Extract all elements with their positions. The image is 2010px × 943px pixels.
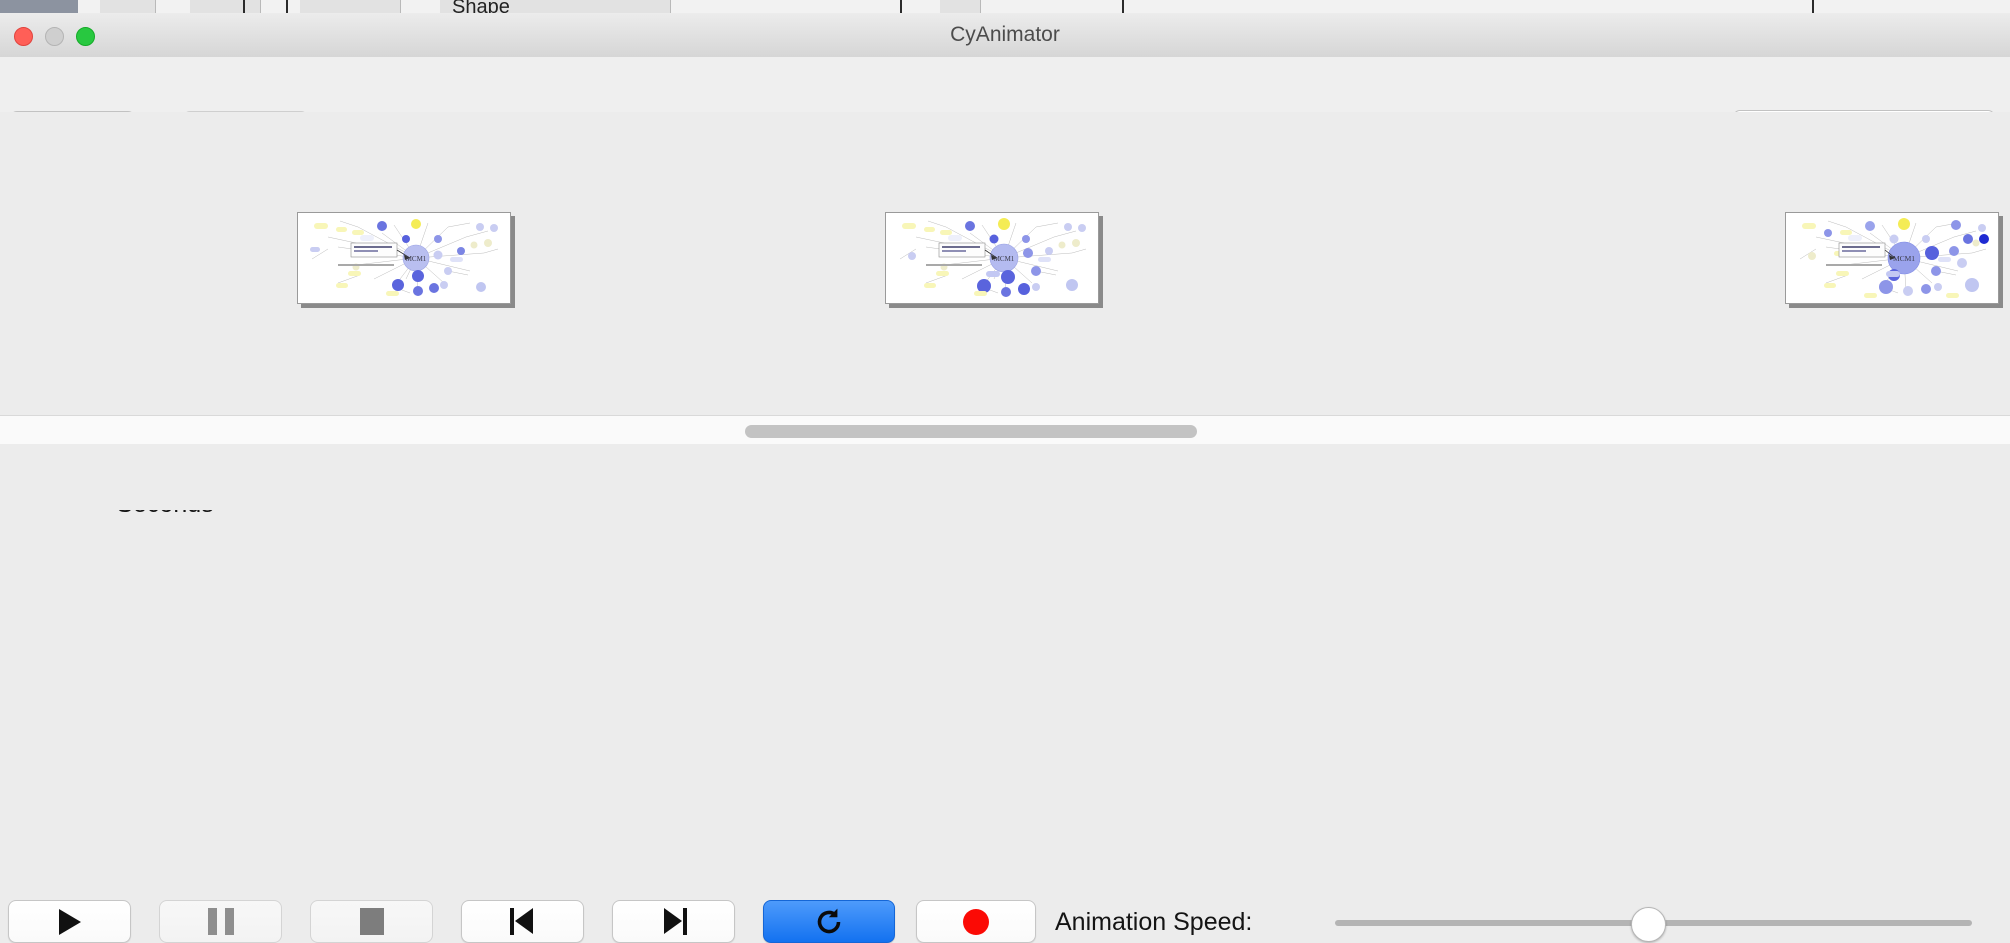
background-window-strip: Shape	[0, 0, 2010, 13]
window-title: CyAnimator	[0, 13, 2010, 57]
animation-speed-slider-thumb[interactable]	[1631, 907, 1666, 942]
playback-bar: Animation Speed:	[0, 444, 2010, 510]
background-sidebar-fragment	[0, 0, 78, 13]
stop-button[interactable]	[310, 900, 433, 943]
hub-node-label-1: MCM1	[406, 255, 427, 263]
stop-icon	[360, 908, 384, 935]
background-partial-label: Shape	[452, 0, 510, 13]
frame-thumbnail-2[interactable]: MCM1	[885, 212, 1099, 304]
timeline-scrollbar-thumb[interactable]	[745, 425, 1197, 438]
frame-thumbnail-3[interactable]: MCM1	[1785, 212, 1999, 304]
toolbar: Clear All Frames	[0, 57, 2010, 113]
record-button[interactable]	[916, 900, 1036, 943]
pause-button[interactable]	[159, 900, 282, 943]
play-button[interactable]	[8, 900, 131, 943]
record-icon	[963, 909, 989, 935]
title-bar: CyAnimator	[0, 13, 2010, 58]
cyanimator-window: Shape CyAnimator Clear All Frames	[0, 0, 2010, 510]
timeline-panel[interactable]: MCM1	[0, 112, 2010, 415]
frame-thumbnail-1[interactable]: MCM1	[297, 212, 511, 304]
skip-back-button[interactable]	[461, 900, 584, 943]
loop-button[interactable]	[763, 900, 895, 943]
play-icon	[59, 909, 81, 935]
timeline-scrollbar[interactable]	[0, 415, 2010, 445]
skip-forward-button[interactable]	[612, 900, 735, 943]
loop-icon	[814, 907, 844, 937]
hub-node-label-3: MCM1	[1893, 254, 1915, 263]
network-graph-preview: MCM1	[1786, 213, 1998, 303]
skip-forward-icon	[661, 908, 687, 935]
animation-speed-label: Animation Speed:	[1055, 908, 1252, 937]
pause-icon	[208, 908, 234, 935]
network-graph-preview: MCM1	[298, 213, 510, 303]
hub-node-label-2: MCM1	[994, 255, 1015, 263]
network-graph-preview: MCM1	[886, 213, 1098, 303]
skip-back-icon	[510, 908, 536, 935]
